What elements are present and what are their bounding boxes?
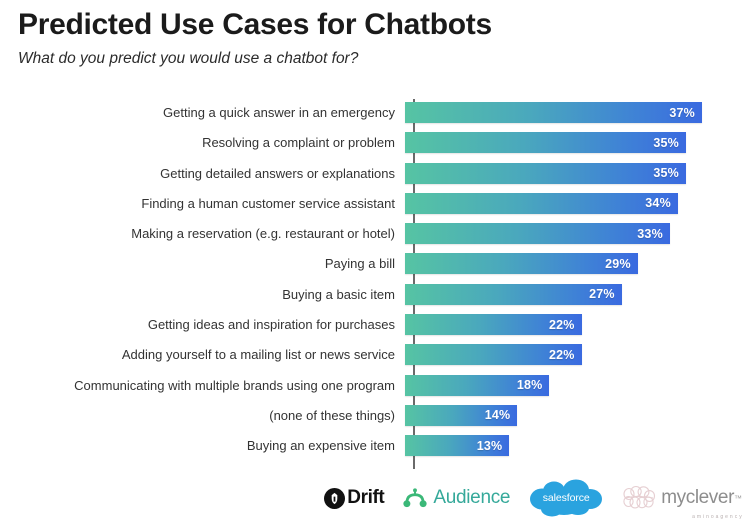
bar-row: Buying a basic item27% bbox=[0, 284, 750, 305]
logo-drift: Drift bbox=[324, 487, 384, 509]
bar-track: 37% bbox=[404, 102, 750, 123]
bar-rows: Getting a quick answer in an emergency37… bbox=[0, 102, 750, 466]
brain-icon bbox=[622, 485, 656, 511]
audience-wordmark: Audience bbox=[433, 487, 510, 509]
bar-row: Getting a quick answer in an emergency37… bbox=[0, 102, 750, 123]
bar-row: Getting detailed answers or explanations… bbox=[0, 163, 750, 184]
bar-row: Communicating with multiple brands using… bbox=[0, 375, 750, 396]
logo-audience: Audience bbox=[402, 487, 510, 509]
bar-track: 22% bbox=[404, 344, 750, 365]
bar-row: Buying an expensive item13% bbox=[0, 435, 750, 456]
logo-myclever: myclever ™ a m i n o a g e n c y bbox=[622, 485, 742, 511]
bar: 13% bbox=[405, 435, 509, 456]
bar-value-label: 35% bbox=[653, 166, 686, 180]
bar-value-label: 35% bbox=[653, 136, 686, 150]
bar-value-label: 14% bbox=[485, 408, 518, 422]
bar-category-label: Paying a bill bbox=[0, 253, 404, 274]
bar-category-label: Making a reservation (e.g. restaurant or… bbox=[0, 223, 404, 244]
audience-robot-icon bbox=[402, 488, 428, 508]
bar-row: Paying a bill29% bbox=[0, 253, 750, 274]
page-subtitle: What do you predict you would use a chat… bbox=[18, 50, 728, 69]
bar-value-label: 13% bbox=[477, 439, 510, 453]
bar-value-label: 33% bbox=[637, 227, 670, 241]
bar: 37% bbox=[405, 102, 702, 123]
bar-category-label: Adding yourself to a mailing list or new… bbox=[0, 344, 404, 365]
bar-track: 34% bbox=[404, 193, 750, 214]
bar: 35% bbox=[405, 132, 686, 153]
bar: 34% bbox=[405, 193, 678, 214]
bar-track: 14% bbox=[404, 405, 750, 426]
page-title: Predicted Use Cases for Chatbots bbox=[18, 8, 728, 43]
bar-track: 22% bbox=[404, 314, 750, 335]
bar-category-label: Buying a basic item bbox=[0, 284, 404, 305]
bar-track: 35% bbox=[404, 132, 750, 153]
bar-track: 33% bbox=[404, 223, 750, 244]
bar-track: 18% bbox=[404, 375, 750, 396]
bar-row: (none of these things)14% bbox=[0, 405, 750, 426]
bar-track: 13% bbox=[404, 435, 750, 456]
bar-row: Finding a human customer service assista… bbox=[0, 193, 750, 214]
bar-value-label: 29% bbox=[605, 257, 638, 271]
bar-category-label: (none of these things) bbox=[0, 405, 404, 426]
bar-value-label: 22% bbox=[549, 318, 582, 332]
bar-row: Resolving a complaint or problem35% bbox=[0, 132, 750, 153]
drift-robot-icon bbox=[324, 488, 345, 509]
myclever-wordmark: myclever bbox=[661, 487, 734, 509]
bar-category-label: Buying an expensive item bbox=[0, 435, 404, 456]
bar-row: Getting ideas and inspiration for purcha… bbox=[0, 314, 750, 335]
bar-track: 27% bbox=[404, 284, 750, 305]
chart-page: Predicted Use Cases for Chatbots What do… bbox=[0, 0, 750, 524]
salesforce-cloud-icon: salesforce bbox=[528, 478, 604, 518]
bar-row: Adding yourself to a mailing list or new… bbox=[0, 344, 750, 365]
bar: 27% bbox=[405, 284, 622, 305]
bar: 22% bbox=[405, 314, 582, 335]
bar-value-label: 34% bbox=[645, 196, 678, 210]
bar-category-label: Getting detailed answers or explanations bbox=[0, 163, 404, 184]
bar-track: 29% bbox=[404, 253, 750, 274]
bar: 22% bbox=[405, 344, 582, 365]
bar-category-label: Getting ideas and inspiration for purcha… bbox=[0, 314, 404, 335]
bar-track: 35% bbox=[404, 163, 750, 184]
myclever-tagline: a m i n o a g e n c y bbox=[692, 514, 742, 520]
bar-value-label: 37% bbox=[669, 106, 702, 120]
bar-category-label: Getting a quick answer in an emergency bbox=[0, 102, 404, 123]
bar: 29% bbox=[405, 253, 638, 274]
bar-category-label: Resolving a complaint or problem bbox=[0, 132, 404, 153]
myclever-trademark: ™ bbox=[734, 494, 742, 503]
footer-logos: Drift Audience bbox=[0, 478, 750, 524]
salesforce-wordmark: salesforce bbox=[528, 492, 604, 504]
bar: 14% bbox=[405, 405, 517, 426]
bar-category-label: Communicating with multiple brands using… bbox=[0, 375, 404, 396]
bar-value-label: 22% bbox=[549, 348, 582, 362]
drift-wordmark: Drift bbox=[347, 487, 384, 509]
logo-salesforce: salesforce bbox=[528, 478, 604, 518]
chart-header: Predicted Use Cases for Chatbots What do… bbox=[18, 8, 728, 68]
bar-category-label: Finding a human customer service assista… bbox=[0, 193, 404, 214]
bar-value-label: 27% bbox=[589, 287, 622, 301]
bar-row: Making a reservation (e.g. restaurant or… bbox=[0, 223, 750, 244]
bar-value-label: 18% bbox=[517, 378, 550, 392]
bar-chart: Getting a quick answer in an emergency37… bbox=[0, 99, 750, 471]
bar: 18% bbox=[405, 375, 549, 396]
bar: 35% bbox=[405, 163, 686, 184]
bar: 33% bbox=[405, 223, 670, 244]
